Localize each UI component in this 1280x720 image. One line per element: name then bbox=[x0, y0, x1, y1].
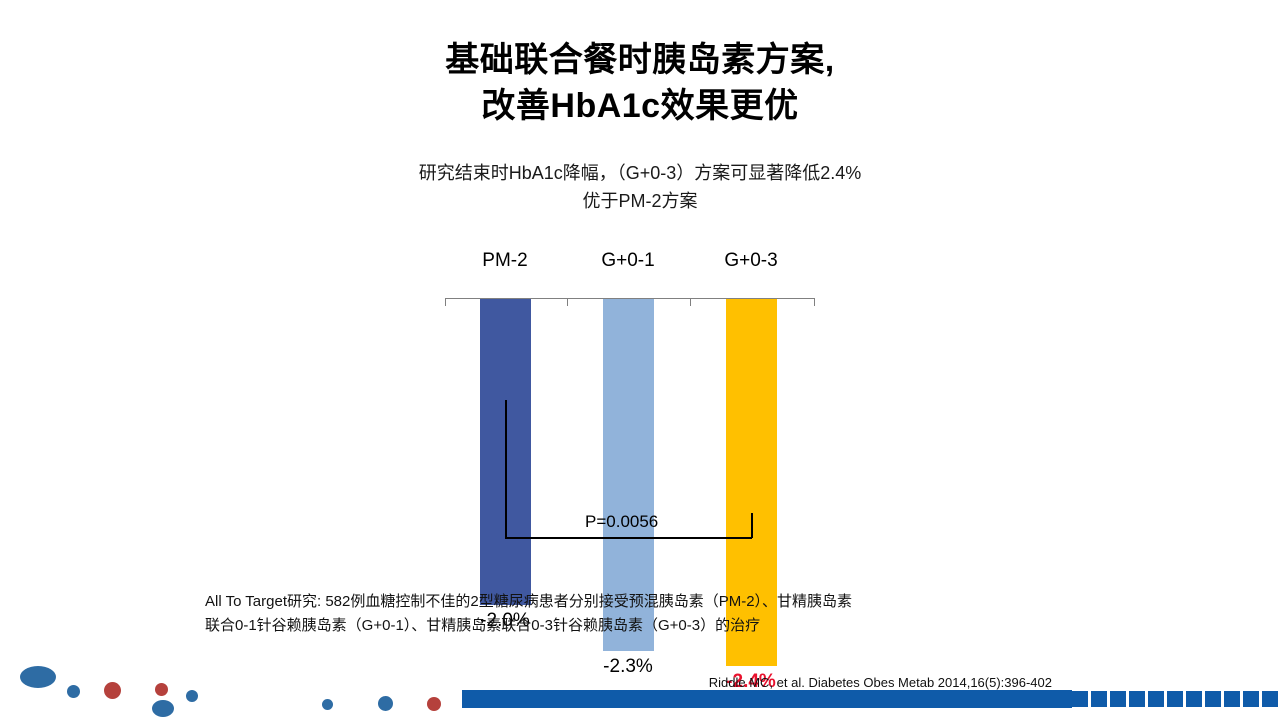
subtitle-line-2: 优于PM-2方案 bbox=[0, 188, 1280, 216]
category-labels: PM-2G+0-1G+0-3 bbox=[440, 250, 816, 290]
decor-square-10 bbox=[1262, 691, 1278, 707]
significance-bracket-base bbox=[505, 537, 752, 539]
decor-square-8 bbox=[1224, 691, 1240, 707]
axis-tick-0 bbox=[445, 298, 446, 306]
decor-square-3 bbox=[1129, 691, 1145, 707]
decor-square-5 bbox=[1167, 691, 1183, 707]
value-label-G+0-1: -2.3% bbox=[594, 656, 662, 678]
hba1c-bar-chart: PM-2G+0-1G+0-3 -2.0%-2.3%-2.4% P=0.0056 bbox=[440, 250, 816, 550]
significance-bracket-right-arm bbox=[751, 513, 753, 538]
axis-tick-1 bbox=[567, 298, 568, 306]
decor-square-4 bbox=[1148, 691, 1164, 707]
decor-square-1 bbox=[1091, 691, 1107, 707]
decor-square-9 bbox=[1243, 691, 1259, 707]
decor-dot-1 bbox=[67, 685, 80, 698]
title-line-1: 基础联合餐时胰岛素方案, bbox=[0, 38, 1280, 84]
study-footnote: All To Target研究: 582例血糖控制不佳的2型糖尿病患者分别接受预… bbox=[205, 590, 1045, 639]
decor-square-0 bbox=[1072, 691, 1088, 707]
decor-dot-7 bbox=[378, 696, 393, 711]
footnote-line-2: 联合0-1针谷赖胰岛素（G+0-1）、甘精胰岛素联合0-3针谷赖胰岛素（G+0-… bbox=[205, 614, 1045, 638]
footnote-line-1: All To Target研究: 582例血糖控制不佳的2型糖尿病患者分别接受预… bbox=[205, 590, 1045, 614]
decor-dot-6 bbox=[322, 699, 333, 710]
category-label-G+0-3: G+0-3 bbox=[691, 250, 811, 272]
decor-dot-0 bbox=[20, 666, 56, 688]
decor-square-2 bbox=[1110, 691, 1126, 707]
category-label-G+0-1: G+0-1 bbox=[568, 250, 688, 272]
axis-tick-3 bbox=[814, 298, 815, 306]
citation-reference: Riddle MC, et al. Diabetes Obes Metab 20… bbox=[709, 675, 1052, 690]
axis-tick-2 bbox=[690, 298, 691, 306]
footer-accent-bar bbox=[462, 690, 1072, 708]
significance-bracket-left-arm bbox=[505, 400, 507, 538]
page-title: 基础联合餐时胰岛素方案, 改善HbA1c效果更优 bbox=[0, 38, 1280, 129]
category-label-PM-2: PM-2 bbox=[445, 250, 565, 272]
decor-dot-4 bbox=[186, 690, 198, 702]
p-value-label: P=0.0056 bbox=[585, 512, 658, 532]
decor-dot-5 bbox=[152, 700, 174, 717]
slide-canvas: 基础联合餐时胰岛素方案, 改善HbA1c效果更优 研究结束时HbA1c降幅，（G… bbox=[0, 0, 1280, 720]
decor-square-7 bbox=[1205, 691, 1221, 707]
subtitle: 研究结束时HbA1c降幅，（G+0-3）方案可显著降低2.4% 优于PM-2方案 bbox=[0, 160, 1280, 216]
title-line-2: 改善HbA1c效果更优 bbox=[0, 84, 1280, 130]
decor-square-6 bbox=[1186, 691, 1202, 707]
subtitle-line-1: 研究结束时HbA1c降幅，（G+0-3）方案可显著降低2.4% bbox=[0, 160, 1280, 188]
decor-dot-2 bbox=[104, 682, 121, 699]
decor-dot-8 bbox=[427, 697, 441, 711]
decor-dot-3 bbox=[155, 683, 168, 696]
